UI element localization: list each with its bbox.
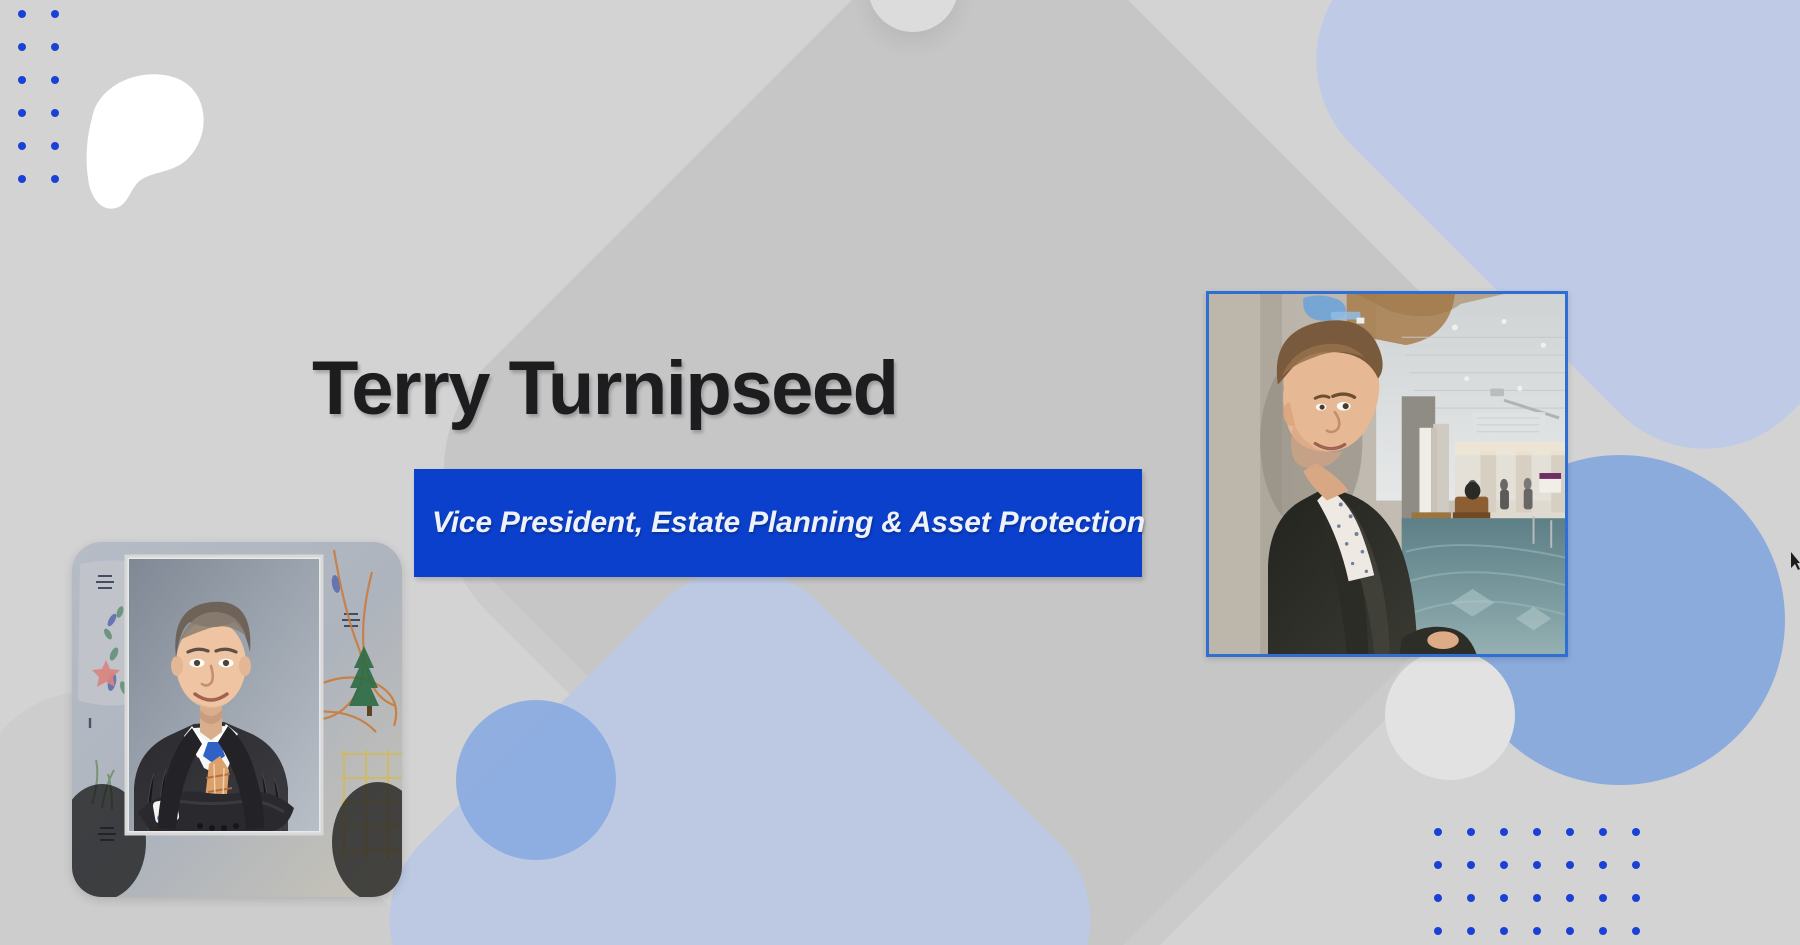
- grid-dot: [51, 109, 59, 117]
- grid-dot: [1434, 828, 1442, 836]
- grid-dot: [1632, 894, 1640, 902]
- grid-dot: [1599, 894, 1607, 902]
- grid-dot: [1566, 861, 1574, 869]
- grid-dot: [1533, 894, 1541, 902]
- patreon-logo: [72, 62, 212, 212]
- grid-dot: [1434, 861, 1442, 869]
- subtitle-text: Vice President, Estate Planning & Asset …: [414, 506, 1145, 540]
- grid-dot: [18, 109, 26, 117]
- circle-light-right: [1385, 650, 1515, 780]
- slide-canvas: Terry Turnipseed Vice President, Estate …: [0, 0, 1800, 945]
- grid-dot: [1599, 828, 1607, 836]
- circle-blue-mid: [456, 700, 616, 860]
- grid-dot: [1566, 828, 1574, 836]
- grid-dot: [51, 142, 59, 150]
- grid-dot: [1599, 927, 1607, 935]
- grid-dot: [1566, 894, 1574, 902]
- grid-dot: [1566, 927, 1574, 935]
- grid-dot: [1599, 861, 1607, 869]
- grid-dot: [18, 175, 26, 183]
- grid-dot: [1467, 927, 1475, 935]
- grid-dot: [1533, 927, 1541, 935]
- grid-dot: [51, 10, 59, 18]
- grid-dot: [18, 10, 26, 18]
- grid-dot: [18, 142, 26, 150]
- grid-dot: [1467, 861, 1475, 869]
- grid-dot: [1467, 828, 1475, 836]
- grid-dot: [1434, 894, 1442, 902]
- subtitle-banner: Vice President, Estate Planning & Asset …: [414, 469, 1142, 577]
- grid-dot: [1533, 828, 1541, 836]
- grid-dot: [51, 76, 59, 84]
- grid-dot: [1632, 828, 1640, 836]
- photo-professional-portrait: [72, 542, 402, 897]
- mouse-pointer-icon: [1791, 552, 1800, 570]
- grid-dot: [1500, 828, 1508, 836]
- grid-dot: [51, 43, 59, 51]
- grid-dot: [1500, 927, 1508, 935]
- grid-dot: [1533, 861, 1541, 869]
- page-title: Terry Turnipseed: [312, 345, 898, 432]
- grid-dot: [1632, 927, 1640, 935]
- grid-dot: [1467, 894, 1475, 902]
- grid-dot: [18, 43, 26, 51]
- photo-conference-leaning: [1206, 291, 1568, 657]
- grid-dot: [51, 175, 59, 183]
- grid-dot: [1434, 927, 1442, 935]
- grid-dot: [1632, 861, 1640, 869]
- grid-dot: [1500, 861, 1508, 869]
- grid-dot: [1500, 894, 1508, 902]
- grid-dot: [18, 76, 26, 84]
